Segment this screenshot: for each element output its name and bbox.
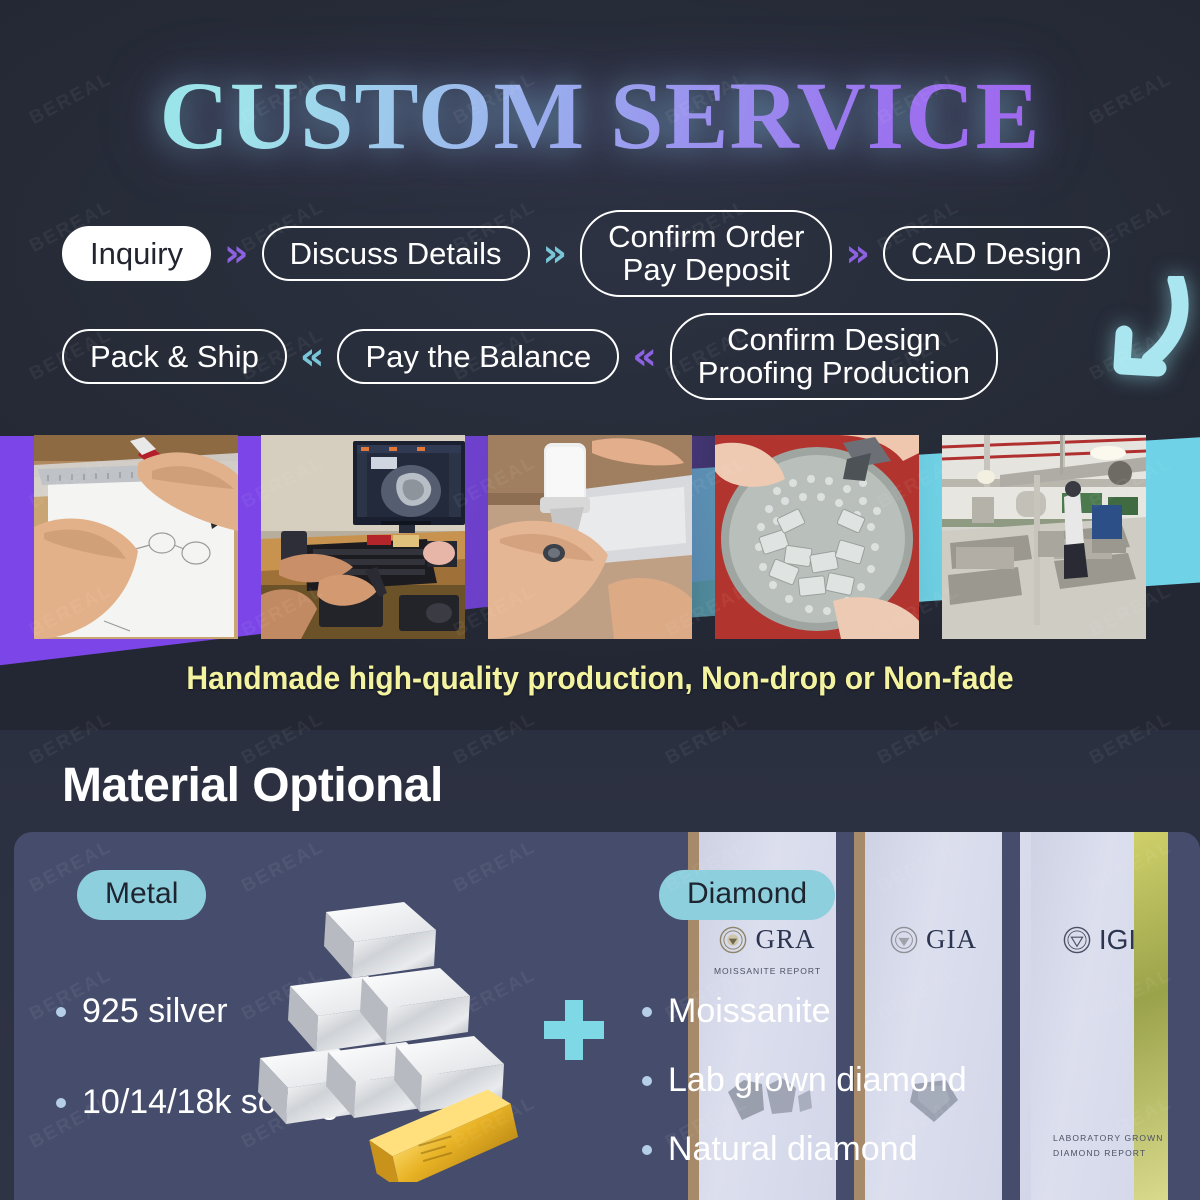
list-item-label: Moissanite: [668, 992, 831, 1031]
chevron-right-icon: »: [845, 234, 870, 272]
section-title-material: Material Optional: [62, 758, 443, 813]
bullet-dot-icon: [56, 1007, 66, 1017]
flow-step-confirm-design[interactable]: Confirm Design Proofing Production: [670, 313, 998, 400]
photo-stone-setting-pendant: [715, 435, 919, 639]
page-title: CUSTOM SERVICE: [0, 68, 1200, 164]
list-item: Moissanite: [642, 992, 967, 1031]
list-item: Lab grown diamond: [642, 1061, 967, 1100]
flow-step-pay-balance[interactable]: Pay the Balance: [337, 329, 619, 384]
list-item-label: 925 silver: [82, 992, 228, 1031]
quality-caption: Handmade high-quality production, Non-dr…: [36, 660, 1164, 697]
photo-cad-designer-at-computer: [261, 435, 465, 639]
flow-step-discuss-details[interactable]: Discuss Details: [262, 226, 530, 281]
curved-down-arrow-icon: [1098, 276, 1194, 386]
flow-step-inquiry[interactable]: Inquiry: [62, 226, 211, 281]
chevron-right-icon: »: [543, 234, 568, 272]
badge-diamond: Diamond: [659, 870, 835, 920]
plus-icon: [544, 1000, 604, 1060]
photo-wax-carving-polishing: [488, 435, 692, 639]
chevron-left-icon: «: [632, 337, 657, 375]
material-card: GRA MOISSANITE REPORT GIA: [14, 832, 1200, 1200]
bullet-dot-icon: [642, 1076, 652, 1086]
process-photo-strip: [34, 435, 1168, 639]
list-item-label: Lab grown diamond: [668, 1061, 967, 1100]
flow-step-cad-design[interactable]: CAD Design: [883, 226, 1110, 281]
material-section: Material Optional GRA MOISSANITE REPORT: [0, 730, 1200, 1200]
diamond-options-list: Moissanite Lab grown diamond Natural dia…: [642, 992, 967, 1199]
process-flow-row-1: Inquiry » Discuss Details » Confirm Orde…: [62, 210, 1110, 297]
flow-step-confirm-order[interactable]: Confirm Order Pay Deposit: [580, 210, 832, 297]
chevron-left-icon: «: [300, 337, 325, 375]
chevron-right-icon: »: [224, 234, 249, 272]
photo-jewelry-factory-production-line: [942, 435, 1146, 639]
material-card-content: Metal Diamond: [14, 832, 1200, 1200]
list-item: Natural diamond: [642, 1130, 967, 1169]
flow-step-pack-ship[interactable]: Pack & Ship: [62, 329, 287, 384]
bullet-dot-icon: [642, 1145, 652, 1155]
list-item-label: Natural diamond: [668, 1130, 917, 1169]
process-flow-row-2: Pack & Ship « Pay the Balance « Confirm …: [62, 313, 998, 400]
plus-bar-vertical: [565, 1000, 583, 1060]
bullet-dot-icon: [56, 1098, 66, 1108]
hero-section: CUSTOM SERVICE Inquiry » Discuss Details…: [0, 0, 1200, 730]
photo-hand-sketching-jewelry-design: [34, 435, 238, 639]
badge-metal: Metal: [77, 870, 206, 920]
bullet-dot-icon: [642, 1007, 652, 1017]
metal-bars-illustration: [242, 862, 522, 1182]
